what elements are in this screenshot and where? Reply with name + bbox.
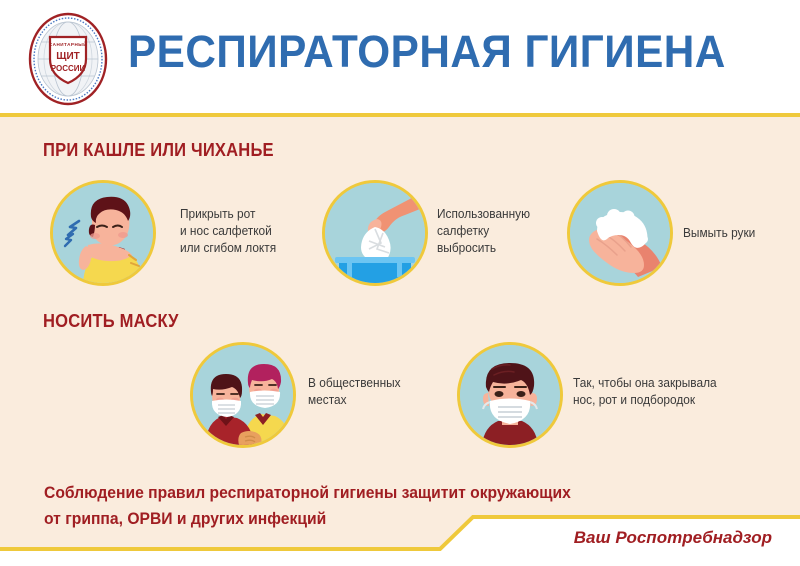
caption-public-places: В общественных местах: [308, 375, 432, 409]
washing-hands-with-soap-icon: [567, 180, 673, 286]
caption-cover-nose-mouth-chin: Так, чтобы она закрывала нос, рот и подб…: [573, 375, 739, 409]
sanitary-shield-of-russia-logo: САНИТАРНЫЙ ЩИТ РОССИИ: [22, 9, 114, 109]
section-heading-mask: НОСИТЬ МАСКУ: [43, 311, 179, 332]
svg-text:РОССИИ: РОССИИ: [51, 64, 86, 73]
two-boys-wearing-masks-icon: [190, 342, 296, 448]
wash-hands-illustration-graphic: [570, 183, 670, 283]
svg-text:ЩИТ: ЩИТ: [56, 51, 80, 62]
caption-cover-mouth: Прикрыть рот и нос салфеткой или сгибом …: [180, 206, 304, 257]
logo-graphic: САНИТАРНЫЙ ЩИТ РОССИИ: [22, 9, 114, 109]
svg-text:САНИТАРНЫЙ: САНИТАРНЫЙ: [49, 40, 87, 47]
caption-wash-hands: Вымыть руки: [683, 225, 792, 242]
hand-dropping-tissue-in-bin-icon: [322, 180, 428, 286]
page-title: РЕСПИРАТОРНАЯ ГИГИЕНА: [128, 26, 726, 78]
person-sneezing-into-elbow-icon: [50, 180, 156, 286]
signature-text: Ваш Роспотребнадзор: [574, 528, 772, 548]
correct-mask-illustration-graphic: [460, 345, 560, 445]
section-heading-cough: ПРИ КАШЛЕ ИЛИ ЧИХАНЬЕ: [43, 140, 274, 161]
tissue-bin-illustration-graphic: [325, 183, 425, 283]
masked-boys-illustration-graphic: [193, 345, 293, 445]
header-bar: САНИТАРНЫЙ ЩИТ РОССИИ РЕСПИРАТОРНАЯ ГИГИ…: [0, 0, 800, 117]
caption-discard-tissue: Использованную салфетку выбросить: [437, 206, 565, 257]
man-wearing-mask-correctly-icon: [457, 342, 563, 448]
sneeze-illustration-graphic: [53, 183, 153, 283]
conclusion-text: Соблюдение правил респираторной гигиены …: [44, 480, 652, 532]
